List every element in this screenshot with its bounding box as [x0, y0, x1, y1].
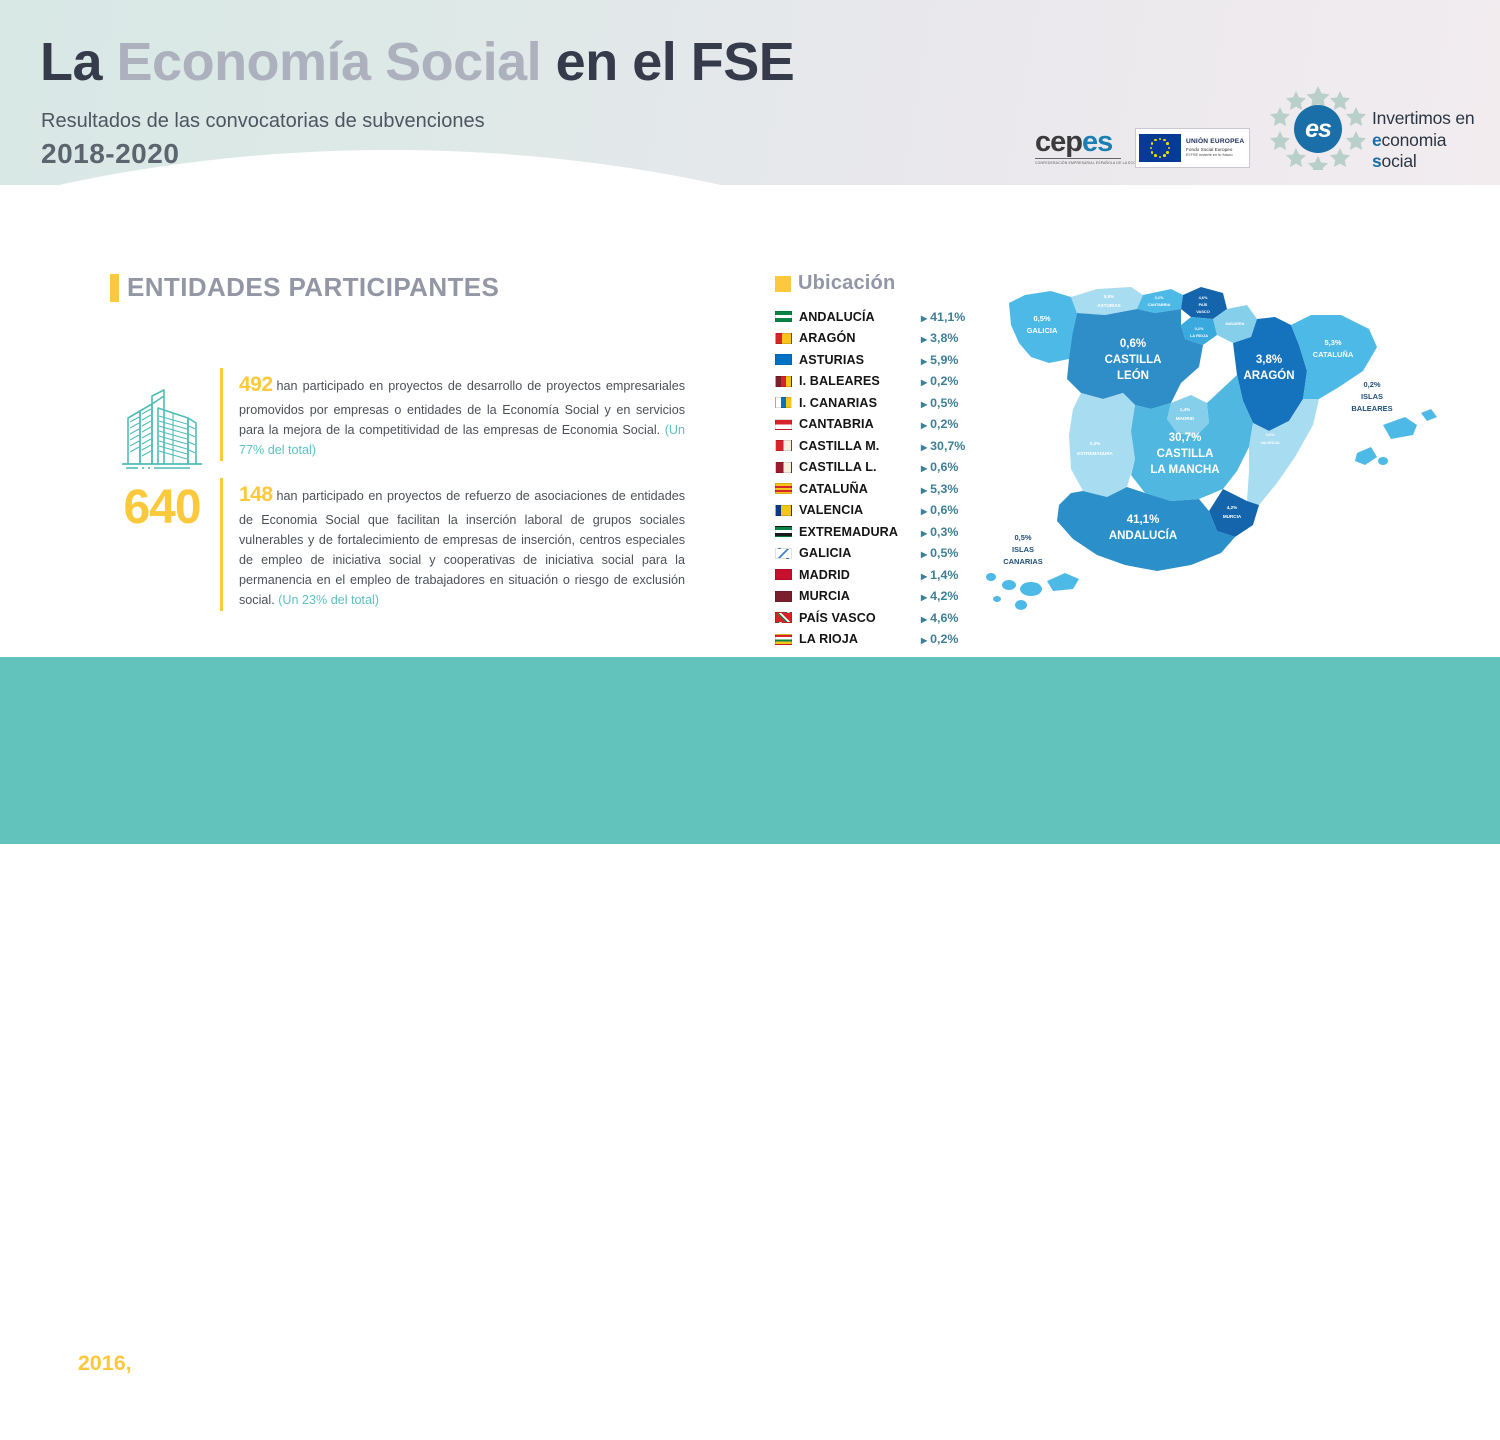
chevron-right-icon: ▶: [921, 314, 927, 323]
label-castilla-leon-name2: LEÓN: [1117, 369, 1149, 382]
stat-2-paragraph: 148han participado en proyectos de refue…: [239, 478, 685, 611]
flag-icon: [775, 505, 792, 516]
label-murcia-name: MURCIA: [1223, 514, 1242, 519]
legend-region-name: I. CANARIAS: [799, 396, 921, 410]
legend-region-value: ▶30,7%: [921, 439, 965, 453]
legend-value-text: 4,2%: [930, 589, 958, 603]
banner-p3: fue designada Organismo Intermedio del P…: [211, 1351, 1188, 1375]
label-castilla-leon-name1: CASTILLA: [1105, 354, 1162, 366]
legend-row-i-baleares[interactable]: I. BALEARES▶0,2%: [775, 371, 975, 393]
label-baleares-pct: 0,2%: [1363, 380, 1380, 389]
cepes-wordmark: cepes: [1035, 128, 1125, 157]
section-title-label: ENTIDADES PARTICIPANTES: [127, 272, 499, 303]
legend-region-value: ▶0,6%: [921, 460, 958, 474]
label-asturias-pct: 5,9%: [1104, 294, 1114, 299]
chevron-right-icon: ▶: [921, 443, 927, 452]
label-pais-vasco-pct: 4,6%: [1199, 295, 1208, 300]
legend-row-asturias[interactable]: ASTURIAS▶5,9%: [775, 349, 975, 371]
legend-value-text: 3,8%: [930, 331, 958, 345]
legend-row-i-canarias[interactable]: I. CANARIAS▶0,5%: [775, 392, 975, 414]
stat-2-percent: (Un 23% del total): [278, 593, 379, 607]
legend-row-galicia[interactable]: GALICIA▶0,5%: [775, 543, 975, 565]
eu-line-1: UNIÓN EUROPEA: [1186, 138, 1244, 146]
label-mancha-name2: LA MANCHA: [1150, 464, 1219, 476]
legend-region-name: CANTABRIA: [799, 417, 921, 431]
header: La Economía Social en el FSE Resultados …: [0, 0, 1500, 185]
chevron-right-icon: ▶: [921, 335, 927, 344]
flag-icon: [775, 591, 792, 602]
legend-value-text: 0,6%: [930, 503, 958, 517]
stat-1-text: han participado en proyectos de desarrol…: [239, 379, 685, 437]
flag-icon: [775, 483, 792, 494]
legend-region-name: PAÍS VASCO: [799, 611, 921, 625]
label-canarias-pct: 0,5%: [1014, 533, 1031, 542]
legend-region-value: ▶41,1%: [921, 310, 965, 324]
legend-row-catalu-a[interactable]: CATALUÑA▶5,3%: [775, 478, 975, 500]
label-extremadura-pct: 0,3%: [1090, 441, 1100, 446]
inv-conomia: conomia: [1382, 130, 1447, 150]
legend-value-text: 0,5%: [930, 546, 958, 560]
legend-region-value: ▶5,3%: [921, 482, 958, 496]
legend-row-castilla-l-[interactable]: CASTILLA L.▶0,6%: [775, 457, 975, 479]
invertimos-line-2: economia social: [1372, 130, 1483, 173]
legend-row-madrid[interactable]: MADRID▶1,4%: [775, 564, 975, 586]
legend-region-value: ▶0,5%: [921, 396, 958, 410]
label-valencia-pct: 0,6%: [1266, 432, 1275, 437]
banner-paragraph: En 2016, CEPES fue designada Organismo I…: [45, 1348, 1457, 1440]
inv-ocial: ocial: [1382, 151, 1417, 171]
chevron-right-icon: ▶: [921, 486, 927, 495]
label-murcia-pct: 4,2%: [1227, 505, 1237, 510]
legend-region-value: ▶0,2%: [921, 417, 958, 431]
invertimos-logo: es Invertimos en economia social: [1268, 86, 1483, 170]
buildings-icon: [118, 382, 206, 474]
legend-region-name: CATALUÑA: [799, 482, 921, 496]
section-accent-bar: [110, 274, 119, 302]
inv-e: e: [1372, 130, 1382, 150]
stat-block-492: 492han participado en proyectos de desar…: [220, 368, 685, 461]
label-baleares-name1: ISLAS: [1361, 392, 1383, 401]
chevron-right-icon: ▶: [921, 400, 927, 409]
page-subtitle: Resultados de las convocatorias de subve…: [41, 110, 485, 133]
legend-region-name: ASTURIAS: [799, 353, 921, 367]
legend-region-value: ▶0,6%: [921, 503, 958, 517]
legend-swatch: [775, 276, 791, 292]
chevron-right-icon: ▶: [921, 421, 927, 430]
flag-icon: [775, 634, 792, 645]
label-la-rioja-name: LA RIOJA: [1190, 333, 1208, 338]
legend-region-name: GALICIA: [799, 546, 921, 560]
legend-region-name: MADRID: [799, 568, 921, 582]
page-title: La Economía Social en el FSE: [40, 35, 794, 89]
inv-s: s: [1372, 151, 1382, 171]
label-pais-vasco-name1: PAÍS: [1199, 302, 1208, 307]
stat-block-148: 148han participado en proyectos de refue…: [220, 478, 685, 611]
es-mark: es: [1294, 105, 1342, 153]
cepes-rule: [1035, 158, 1121, 159]
legend-region-name: ARAGÓN: [799, 331, 921, 345]
invertimos-text: Invertimos en economia social: [1372, 108, 1483, 173]
label-galicia-pct: 0,5%: [1033, 314, 1050, 323]
region-baleares[interactable]: [1355, 409, 1437, 465]
label-cataluna-name: CATALUÑA: [1313, 350, 1354, 359]
label-galicia-name: GALICIA: [1027, 326, 1058, 335]
legend-region-name: MURCIA: [799, 589, 921, 603]
label-cataluna-pct: 5,3%: [1324, 338, 1341, 347]
legend-region-value: ▶5,9%: [921, 353, 958, 367]
chevron-right-icon: ▶: [921, 636, 927, 645]
chevron-right-icon: ▶: [921, 378, 927, 387]
spain-map-svg: 0,5% GALICIA 5,9% ASTURIAS 0,2% CANTABRI…: [985, 275, 1445, 625]
title-part-3: en el FSE: [556, 32, 795, 92]
flag-icon: [775, 526, 792, 537]
legend-header: Ubicación: [775, 272, 975, 295]
region-extremadura[interactable]: [1069, 393, 1135, 497]
banner-cepes: CEPES: [138, 1351, 211, 1375]
label-valencia-name: VALENCIA: [1260, 440, 1280, 445]
label-mancha-pct: 30,7%: [1169, 432, 1202, 444]
bottom-banner: En 2016, CEPES fue designada Organismo I…: [0, 657, 1500, 844]
legend-row-castilla-m-[interactable]: CASTILLA M.▶30,7%: [775, 435, 975, 457]
stat-2-text: han participado en proyectos de refuerzo…: [239, 489, 685, 607]
legend-row-pa-s-vasco[interactable]: PAÍS VASCO▶4,6%: [775, 607, 975, 629]
chevron-right-icon: ▶: [921, 529, 927, 538]
legend-region-value: ▶0,2%: [921, 374, 958, 388]
banner-poises: (POISES).: [1188, 1351, 1288, 1375]
label-andalucia-name: ANDALUCÍA: [1109, 529, 1177, 542]
stat-1-number: 492: [239, 373, 273, 396]
label-canarias-name2: CANARIAS: [1003, 557, 1043, 566]
cepes-name: cep: [1035, 126, 1082, 158]
ubicacion-legend: Ubicación ANDALUCÍA▶41,1%ARAGÓN▶3,8%ASTU…: [775, 272, 975, 650]
region-canarias[interactable]: [986, 573, 1079, 610]
legend-value-text: 5,9%: [930, 353, 958, 367]
eu-logo-text: UNIÓN EUROPEA Fondo Social Europeo El FS…: [1186, 138, 1244, 158]
entities-section-title: ENTIDADES PARTICIPANTES: [110, 272, 499, 303]
flag-icon: [775, 548, 792, 559]
label-baleares-name2: BALEARES: [1351, 404, 1392, 413]
legend-row-andaluc-a[interactable]: ANDALUCÍA▶41,1%: [775, 306, 975, 328]
eu-line-3: El FSE invierte en tu futuro: [1186, 153, 1244, 158]
legend-row-extremadura[interactable]: EXTREMADURA▶0,3%: [775, 521, 975, 543]
legend-region-name: I. BALEARES: [799, 374, 921, 388]
label-aragon-name: ARAGÓN: [1243, 369, 1294, 382]
chevron-right-icon: ▶: [921, 615, 927, 624]
chevron-right-icon: ▶: [921, 357, 927, 366]
legend-region-value: ▶0,5%: [921, 546, 958, 560]
label-castilla-leon-pct: 0,6%: [1120, 338, 1146, 350]
flag-icon: [775, 462, 792, 473]
legend-value-text: 0,6%: [930, 460, 958, 474]
page-years: 2018-2020: [41, 138, 179, 170]
legend-region-name: VALENCIA: [799, 503, 921, 517]
stat-1-paragraph: 492han participado en proyectos de desar…: [239, 368, 685, 461]
label-asturias-name: ASTURIAS: [1097, 303, 1120, 308]
legend-region-name: ANDALUCÍA: [799, 310, 921, 324]
eu-flag-icon: [1139, 134, 1181, 162]
legend-value-text: 41,1%: [930, 310, 965, 324]
label-madrid-pct: 1,4%: [1180, 407, 1190, 412]
label-mancha-name1: CASTILLA: [1157, 448, 1214, 460]
banner-p1: En: [45, 1351, 78, 1375]
legend-value-text: 0,3%: [930, 525, 958, 539]
legend-row-arag-n[interactable]: ARAGÓN▶3,8%: [775, 328, 975, 350]
label-aragon-pct: 3,8%: [1256, 354, 1282, 366]
banner-year: 2016,: [78, 1351, 132, 1375]
label-la-rioja-pct: 0,2%: [1195, 326, 1204, 331]
title-part-1: La: [40, 32, 117, 92]
invertimos-line-1: Invertimos en: [1372, 108, 1483, 130]
cepes-logo: cepes CONFEDERACIÓN EMPRESARIAL ESPAÑOLA…: [1035, 128, 1125, 170]
flag-icon: [775, 569, 792, 580]
chevron-right-icon: ▶: [921, 550, 927, 559]
label-cantabria-name: CANTABRIA: [1148, 302, 1171, 307]
flag-icon: [775, 311, 792, 322]
label-extremadura-name: EXTREMADURA: [1077, 451, 1113, 456]
label-andalucia-pct: 41,1%: [1127, 514, 1160, 526]
legend-region-value: ▶1,4%: [921, 568, 958, 582]
flag-icon: [775, 333, 792, 344]
label-cantabria-pct: 0,2%: [1155, 295, 1164, 300]
total-entities-count: 640: [112, 480, 212, 535]
cepes-accent: es: [1082, 126, 1112, 158]
cepes-subtitle: CONFEDERACIÓN EMPRESARIAL ESPAÑOLA DE LA…: [1035, 161, 1125, 165]
legend-region-value: ▶0,3%: [921, 525, 958, 539]
legend-value-text: 0,2%: [930, 374, 958, 388]
label-canarias-name1: ISLAS: [1012, 545, 1034, 554]
label-pais-vasco-name2: VASCO: [1196, 309, 1210, 314]
legend-row-valencia[interactable]: VALENCIA▶0,6%: [775, 500, 975, 522]
legend-region-name: LA RIOJA: [799, 632, 921, 646]
flag-icon: [775, 397, 792, 408]
legend-region-name: CASTILLA L.: [799, 460, 921, 474]
legend-value-text: 30,7%: [930, 439, 965, 453]
legend-row-murcia[interactable]: MURCIA▶4,2%: [775, 586, 975, 608]
legend-region-name: EXTREMADURA: [799, 525, 921, 539]
stat-2-number: 148: [239, 483, 273, 506]
legend-region-value: ▶3,8%: [921, 331, 958, 345]
region-andalucia[interactable]: [1057, 487, 1235, 571]
legend-value-text: 0,5%: [930, 396, 958, 410]
region-cantabria[interactable]: [1137, 289, 1183, 313]
chevron-right-icon: ▶: [921, 572, 927, 581]
chevron-right-icon: ▶: [921, 464, 927, 473]
legend-region-name: CASTILLA M.: [799, 439, 921, 453]
legend-value-text: 5,3%: [930, 482, 958, 496]
legend-value-text: 4,6%: [930, 611, 958, 625]
legend-region-value: ▶0,2%: [921, 632, 958, 646]
legend-value-text: 1,4%: [930, 568, 958, 582]
legend-title: Ubicación: [798, 272, 895, 295]
chevron-right-icon: ▶: [921, 507, 927, 516]
spain-map: 0,5% GALICIA 5,9% ASTURIAS 0,2% CANTABRI…: [985, 275, 1445, 625]
eu-logo: UNIÓN EUROPEA Fondo Social Europeo El FS…: [1135, 128, 1250, 168]
flag-icon: [775, 440, 792, 451]
legend-row-cantabria[interactable]: CANTABRIA▶0,2%: [775, 414, 975, 436]
flag-icon: [775, 376, 792, 387]
title-part-2: Economía Social: [117, 32, 556, 92]
legend-region-value: ▶4,6%: [921, 611, 958, 625]
legend-value-text: 0,2%: [930, 632, 958, 646]
label-navarra-name: NAVARRA: [1226, 321, 1245, 326]
flag-icon: [775, 419, 792, 430]
legend-region-value: ▶4,2%: [921, 589, 958, 603]
chevron-right-icon: ▶: [921, 593, 927, 602]
flag-icon: [775, 354, 792, 365]
label-madrid-name: MADRID: [1176, 416, 1195, 421]
legend-value-text: 0,2%: [930, 417, 958, 431]
flag-icon: [775, 612, 792, 623]
legend-rows: ANDALUCÍA▶41,1%ARAGÓN▶3,8%ASTURIAS▶5,9%I…: [775, 306, 975, 650]
legend-row-la-rioja[interactable]: LA RIOJA▶0,2%: [775, 629, 975, 651]
